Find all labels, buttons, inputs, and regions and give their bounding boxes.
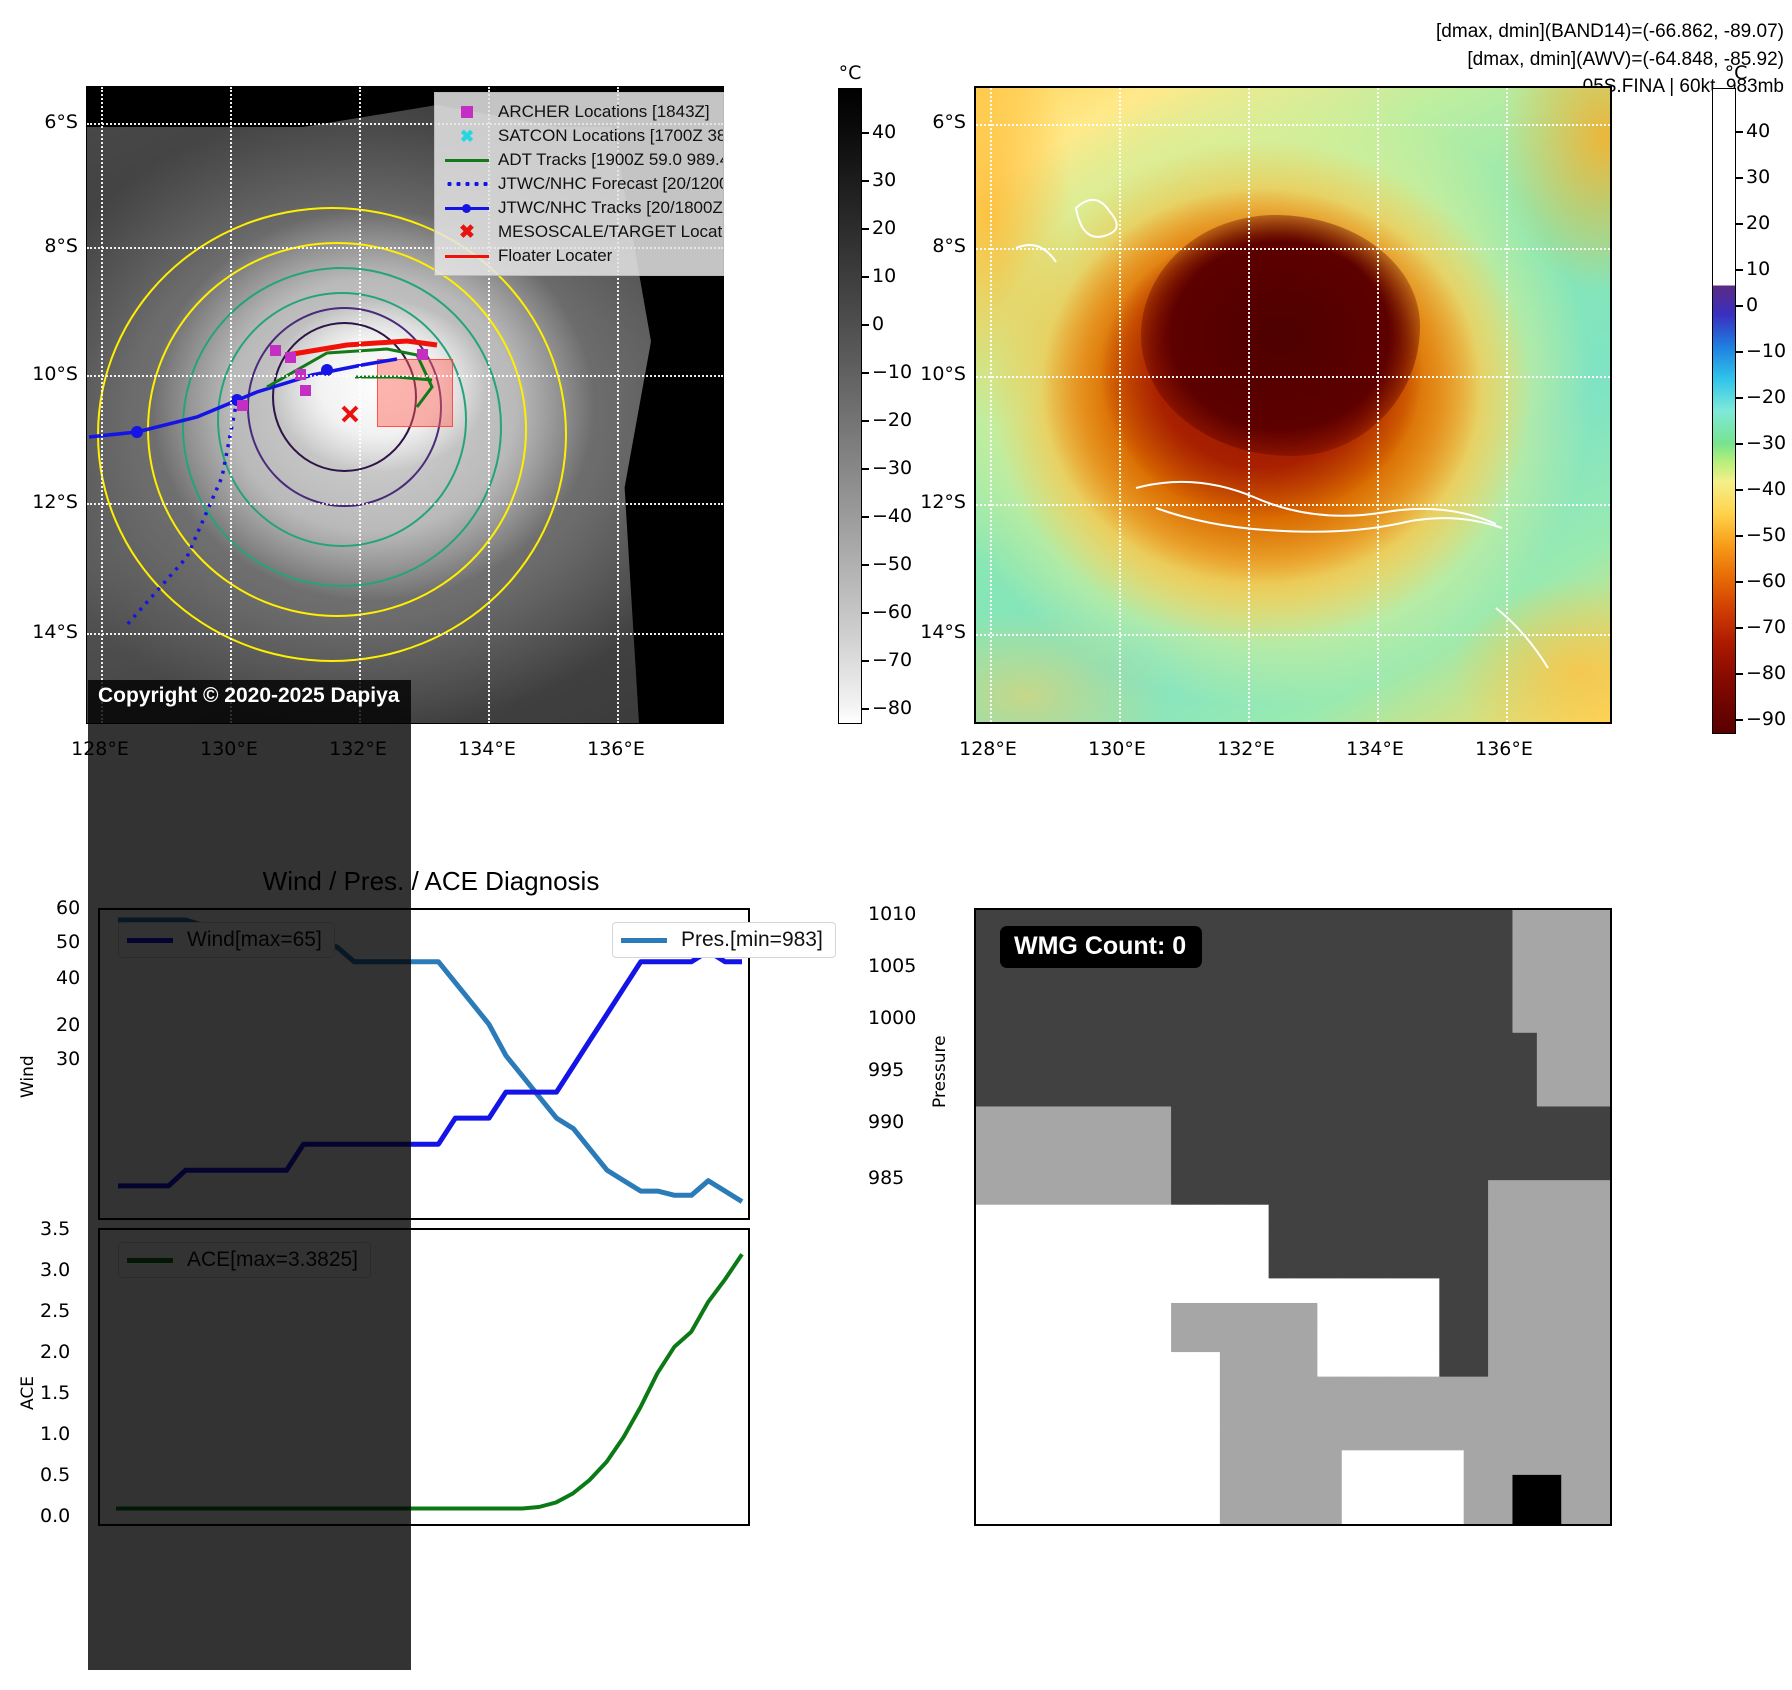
- cbar-eir-tick: −80: [1746, 662, 1786, 684]
- legend-label: ADT Tracks [1900Z 59.0 989.4]: [498, 150, 724, 170]
- lon-label-136E: 136°E: [587, 738, 645, 760]
- wind-ytick: 60: [56, 897, 80, 919]
- wind-ytick: 20: [56, 1014, 80, 1036]
- magenta-square-icon: [443, 102, 491, 122]
- cbar-gray-tick: −50: [872, 553, 912, 575]
- cbar-eir-tick: −10: [1746, 340, 1786, 362]
- lat-label-10S: 10°S: [14, 363, 78, 385]
- legend-label: ARCHER Locations [1843Z]: [498, 102, 710, 122]
- wind-ytick: 50: [56, 931, 80, 953]
- blue-dotted-line-icon: [443, 174, 491, 194]
- wmg-panel[interactable]: [974, 908, 1612, 1526]
- wind-ytick: 40: [56, 967, 80, 989]
- pressure-ytick: 1010: [868, 903, 916, 925]
- eir-lat-label-6S: 6°S: [910, 111, 966, 133]
- lat-label-12S: 12°S: [14, 491, 78, 513]
- cbar-eir-tick: 0: [1746, 294, 1758, 316]
- pressure-ytick: 1005: [868, 955, 916, 977]
- legend-label: JTWC/NHC Tracks [20/1800Z]: [498, 198, 724, 218]
- legend-item-satcon[interactable]: ✖ SATCON Locations [1700Z 38 1000]: [443, 124, 717, 148]
- eir-lon-label-128E: 128°E: [959, 738, 1017, 760]
- floater-locater-line: [287, 341, 437, 355]
- cbar-eir-tick: −90: [1746, 708, 1786, 730]
- pressure-axis-label: Pressure: [930, 1028, 950, 1108]
- pressure-ytick: 1000: [868, 1007, 916, 1029]
- cyan-x-icon: ✖: [443, 126, 491, 146]
- legend-item-floater-locater[interactable]: Floater Locater: [443, 244, 717, 268]
- pressure-ytick: 990: [868, 1111, 904, 1133]
- cbar-gray-tick: 30: [872, 169, 896, 191]
- ace-ytick: 1.5: [40, 1382, 70, 1404]
- ace-ytick: 2.0: [40, 1341, 70, 1363]
- wind-axis-label: Wind: [18, 1038, 38, 1098]
- ace-ytick: 1.0: [40, 1423, 70, 1445]
- jtwc-track-line: [89, 359, 397, 437]
- cbar-gray-tick: −20: [872, 409, 912, 431]
- jtwc-track-point: [131, 426, 143, 438]
- ace-ytick: 0.0: [40, 1505, 70, 1527]
- cbar-eir-tick: 30: [1746, 166, 1770, 188]
- ace-ytick: 3.5: [40, 1218, 70, 1240]
- jtwc-track-point: [321, 364, 333, 376]
- pressure-legend-label: Pres.[min=983]: [681, 928, 823, 952]
- legend-item-archer[interactable]: ARCHER Locations [1843Z]: [443, 100, 717, 124]
- cbar-eir-tick: 40: [1746, 120, 1770, 142]
- cbar-gray-tick: −80: [872, 697, 912, 719]
- cbar-eir-tick: 20: [1746, 212, 1770, 234]
- ace-ytick: 3.0: [40, 1259, 70, 1281]
- cbar-eir-tick: −50: [1746, 524, 1786, 546]
- colorbar-eir: [1712, 88, 1736, 734]
- wind-ytick: 30: [56, 1048, 80, 1070]
- dashboard-root: HIMAWARI-8 BAND14-DIAS TARGET AREA Time:…: [0, 0, 1792, 1690]
- pressure-ytick: 995: [868, 1059, 904, 1081]
- cbar-gray-tick: 20: [872, 217, 896, 239]
- cbar-gray-tick: −70: [872, 649, 912, 671]
- cbar-eir-tick: −40: [1746, 478, 1786, 500]
- ace-ytick: 2.5: [40, 1300, 70, 1322]
- mesoscale-target-x: [343, 407, 357, 421]
- cbar-gray-tick: 10: [872, 265, 896, 287]
- cbar-eir-tick: −20: [1746, 386, 1786, 408]
- pressure-line-icon: [621, 938, 667, 943]
- lat-label-14S: 14°S: [14, 621, 78, 643]
- eir-lat-label-8S: 8°S: [910, 235, 966, 257]
- pressure-ytick: 985: [868, 1167, 904, 1189]
- legend-label: MESOSCALE/TARGET Location: [498, 222, 724, 242]
- lon-label-134E: 134°E: [458, 738, 516, 760]
- legend-label: Floater Locater: [498, 246, 612, 266]
- eir-lon-label-132E: 132°E: [1217, 738, 1275, 760]
- cbar-gray-tick: 40: [872, 121, 896, 143]
- ace-axis-label: ACE: [18, 1350, 38, 1410]
- colorbar-eir-unit: °C: [1708, 62, 1764, 84]
- colorbar-gray-unit: °C: [822, 62, 878, 84]
- eir-lon-label-130E: 130°E: [1088, 738, 1146, 760]
- cbar-eir-tick: −60: [1746, 570, 1786, 592]
- colorbar-eir-ticks: 40 30 20 10 0 −10 −20 −30 −40 −50 −60 −7…: [1736, 88, 1792, 734]
- cbar-gray-tick: 0: [872, 313, 884, 335]
- eir-lat-label-10S: 10°S: [902, 363, 966, 385]
- eir-coastline-overlay: [976, 88, 1610, 722]
- eir-lon-label-136E: 136°E: [1475, 738, 1533, 760]
- wmg-count-badge: WMG Count: 0: [1000, 926, 1202, 968]
- cbar-gray-tick: −60: [872, 601, 912, 623]
- dmax-dmin-band14: [dmax, dmin](BAND14)=(-66.862, -89.07): [1436, 18, 1784, 46]
- colorbar-gray: [838, 88, 862, 724]
- adt-track-line-2: [355, 377, 432, 380]
- red-x-icon: ✖: [443, 222, 491, 242]
- cbar-eir-tick: −30: [1746, 432, 1786, 454]
- eir-lat-label-14S: 14°S: [902, 621, 966, 643]
- copyright-notice: Copyright © 2020-2025 Dapiya: [88, 680, 411, 1670]
- legend-item-jtwc-tracks[interactable]: JTWC/NHC Tracks [20/1800Z]: [443, 196, 717, 220]
- legend-item-adt-tracks[interactable]: ADT Tracks [1900Z 59.0 989.4]: [443, 148, 717, 172]
- adt-track-hook: [417, 355, 432, 407]
- legend-label: JTWC/NHC Forecast [20/1200Z]: [498, 174, 724, 194]
- legend-item-mesoscale-target[interactable]: ✖ MESOSCALE/TARGET Location: [443, 220, 717, 244]
- eir-lat-label-12S: 12°S: [902, 491, 966, 513]
- wmg-grid: [976, 910, 1610, 1524]
- eir-lon-label-134E: 134°E: [1346, 738, 1404, 760]
- legend-label: SATCON Locations [1700Z 38 1000]: [498, 126, 724, 146]
- cbar-eir-tick: 10: [1746, 258, 1770, 280]
- green-line-icon: [443, 150, 491, 170]
- enhanced-ir-map[interactable]: [974, 86, 1612, 724]
- cbar-gray-tick: −30: [872, 457, 912, 479]
- cbar-eir-tick: −70: [1746, 616, 1786, 638]
- pressure-legend[interactable]: Pres.[min=983]: [612, 922, 836, 958]
- legend-item-jtwc-forecast[interactable]: JTWC/NHC Forecast [20/1200Z]: [443, 172, 717, 196]
- map-legend[interactable]: ARCHER Locations [1843Z] ✖ SATCON Locati…: [434, 92, 724, 276]
- lat-label-8S: 8°S: [22, 235, 78, 257]
- lat-label-6S: 6°S: [22, 111, 78, 133]
- ace-ytick: 0.5: [40, 1464, 70, 1486]
- blue-line-marker-icon: [443, 198, 491, 218]
- red-line-icon: [443, 246, 491, 266]
